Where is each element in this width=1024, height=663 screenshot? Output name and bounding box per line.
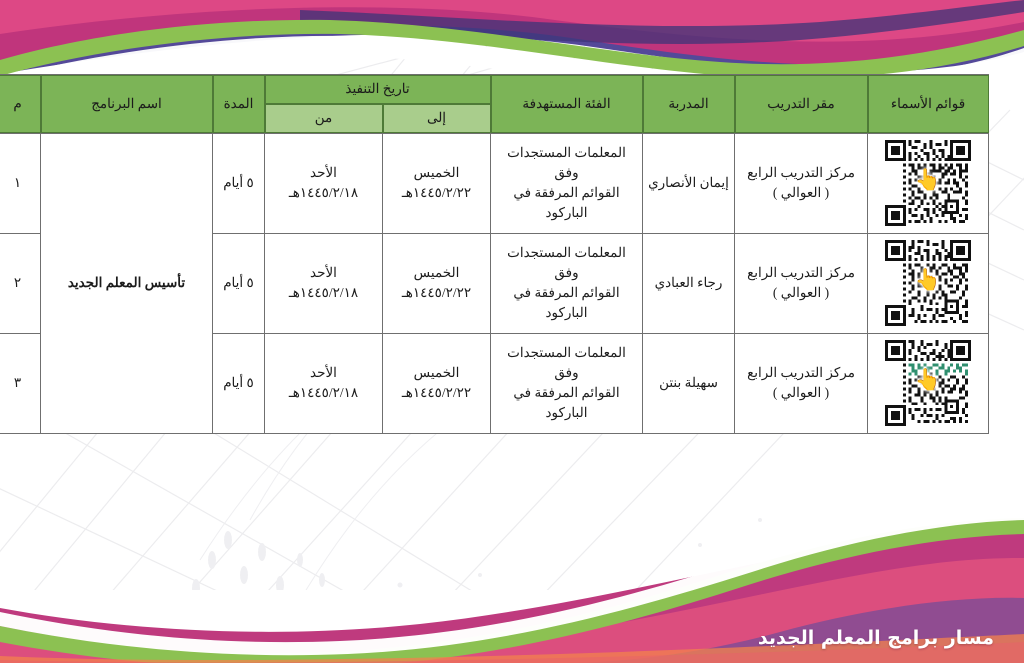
row-number-cell: ١ — [0, 133, 41, 233]
center-line-1: مركز التدريب الرابع — [747, 265, 855, 280]
target-group-cell: المعلمات المستجدات وفق القوائم المرفقة ف… — [491, 133, 643, 233]
center-line-2: ( العوالي ) — [738, 283, 864, 303]
date-to-value: ١٤٤٥/٢/٢٢هـ — [386, 183, 487, 203]
header-row-1: قوائم الأسماء مقر التدريب المدربة الفئة … — [0, 75, 989, 104]
date-to-cell: الخميس ١٤٤٥/٢/٢٢هـ — [383, 233, 491, 333]
table-body: 👆 مركز التدريب الرابع ( العوالي ) إيمان … — [0, 133, 989, 433]
date-to-cell: الخميس ١٤٤٥/٢/٢٢هـ — [383, 333, 491, 433]
center-line-1: مركز التدريب الرابع — [747, 165, 855, 180]
document-page: مسار برامج المعلم الجديد قوائم الأسماء م… — [0, 0, 1024, 663]
col-header-target-group: الفئة المستهدفة — [491, 75, 643, 134]
trainer-cell: إيمان الأنصاري — [643, 133, 735, 233]
qr-code-cell[interactable]: 👆 — [868, 233, 989, 333]
target-group-cell: المعلمات المستجدات وفق القوائم المرفقة ف… — [491, 233, 643, 333]
center-line-2: ( العوالي ) — [738, 383, 864, 403]
center-line-2: ( العوالي ) — [738, 183, 864, 203]
schedule-table-container: قوائم الأسماء مقر التدريب المدربة الفئة … — [35, 74, 989, 434]
program-name-cell: تأسيس المعلم الجديد — [41, 133, 213, 433]
col-header-training-center: مقر التدريب — [735, 75, 868, 134]
date-from-value: ١٤٤٥/٢/١٨هـ — [268, 283, 379, 303]
trainer-cell: رجاء العبادي — [643, 233, 735, 333]
target-line-1: المعلمات المستجدات وفق — [507, 345, 626, 380]
trainer-cell: سهيلة بنتن — [643, 333, 735, 433]
duration-cell: ٥ أيام — [213, 333, 265, 433]
duration-cell: ٥ أيام — [213, 233, 265, 333]
target-line-2: القوائم المرفقة في الباركود — [513, 185, 619, 220]
date-to-value: ١٤٤٥/٢/٢٢هـ — [386, 383, 487, 403]
date-from-cell: الأحد ١٤٤٥/٢/١٨هـ — [265, 333, 383, 433]
date-from-day: الأحد — [268, 263, 379, 283]
col-header-name-lists: قوائم الأسماء — [868, 75, 989, 134]
row-number-cell: ٣ — [0, 333, 41, 433]
date-from-cell: الأحد ١٤٤٥/٢/١٨هـ — [265, 233, 383, 333]
schedule-table: قوائم الأسماء مقر التدريب المدربة الفئة … — [0, 74, 989, 434]
target-group-cell: المعلمات المستجدات وفق القوائم المرفقة ف… — [491, 333, 643, 433]
col-header-number: م — [0, 75, 41, 134]
training-center-cell: مركز التدريب الرابع ( العوالي ) — [735, 333, 868, 433]
date-to-day: الخميس — [386, 163, 487, 183]
date-to-day: الخميس — [386, 263, 487, 283]
duration-cell: ٥ أيام — [213, 133, 265, 233]
date-from-cell: الأحد ١٤٤٥/٢/١٨هـ — [265, 133, 383, 233]
table-row: 👆 مركز التدريب الرابع ( العوالي ) إيمان … — [0, 133, 989, 233]
date-from-value: ١٤٤٥/٢/١٨هـ — [268, 183, 379, 203]
target-line-1: المعلمات المستجدات وفق — [507, 145, 626, 180]
qr-code-cell[interactable]: 👆 — [868, 333, 989, 433]
qr-code-glyph — [885, 340, 971, 426]
date-from-value: ١٤٤٥/٢/١٨هـ — [268, 383, 379, 403]
qr-code-icon[interactable]: 👆 — [885, 340, 971, 426]
target-line-2: القوائم المرفقة في الباركود — [513, 385, 619, 420]
training-center-cell: مركز التدريب الرابع ( العوالي ) — [735, 233, 868, 333]
date-to-cell: الخميس ١٤٤٥/٢/٢٢هـ — [383, 133, 491, 233]
target-line-1: المعلمات المستجدات وفق — [507, 245, 626, 280]
date-from-day: الأحد — [268, 163, 379, 183]
col-header-program-name: اسم البرنامج — [41, 75, 213, 134]
target-line-2: القوائم المرفقة في الباركود — [513, 285, 619, 320]
col-header-date-from: من — [265, 104, 383, 133]
footer-caption: مسار برامج المعلم الجديد — [758, 627, 994, 649]
training-center-cell: مركز التدريب الرابع ( العوالي ) — [735, 133, 868, 233]
col-header-date-to: إلى — [383, 104, 491, 133]
row-number-cell: ٢ — [0, 233, 41, 333]
center-line-1: مركز التدريب الرابع — [747, 365, 855, 380]
table-head: قوائم الأسماء مقر التدريب المدربة الفئة … — [0, 75, 989, 134]
date-to-value: ١٤٤٥/٢/٢٢هـ — [386, 283, 487, 303]
qr-code-glyph — [885, 140, 971, 226]
qr-code-glyph — [885, 240, 971, 326]
date-from-day: الأحد — [268, 363, 379, 383]
qr-code-cell[interactable]: 👆 — [868, 133, 989, 233]
qr-code-icon[interactable]: 👆 — [885, 140, 971, 226]
qr-code-icon[interactable]: 👆 — [885, 240, 971, 326]
date-to-day: الخميس — [386, 363, 487, 383]
col-header-execution-date: تاريخ التنفيذ — [265, 75, 491, 104]
col-header-trainer: المدربة — [643, 75, 735, 134]
col-header-duration: المدة — [213, 75, 265, 134]
